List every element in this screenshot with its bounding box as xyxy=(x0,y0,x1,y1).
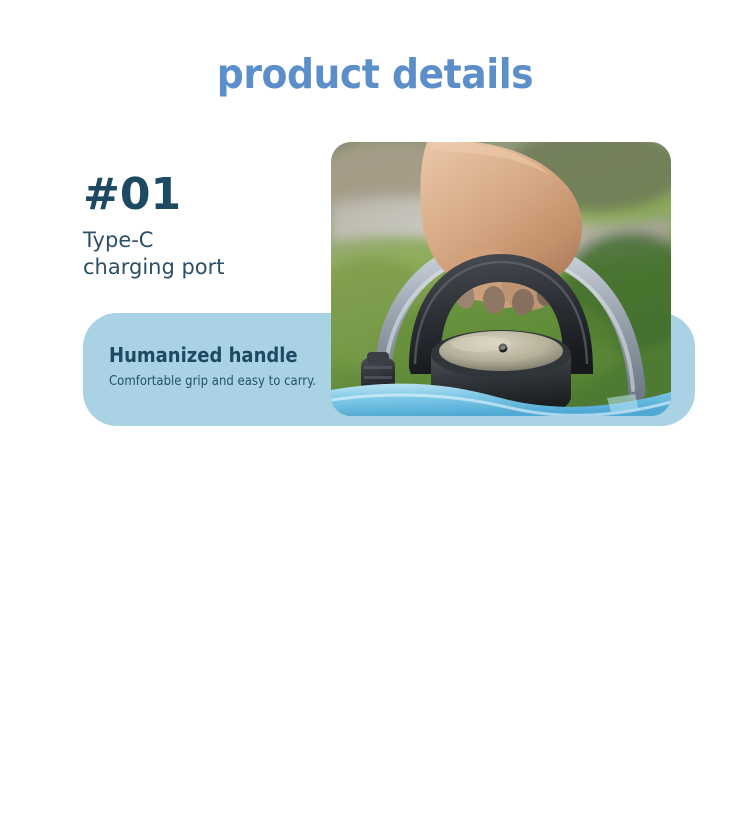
feature-section-01: #01 Type-C charging port Humanized handl… xyxy=(0,0,750,430)
hand-gripping-handle-photo xyxy=(331,142,671,416)
product-details-page: product details #01 Type-C charging port… xyxy=(0,0,750,818)
feature-subtitle-01: Type-C charging port xyxy=(83,227,225,281)
caption-description-01: Comfortable grip and easy to carry. xyxy=(109,374,316,389)
feature-heading-group-01: #01 Type-C charging port xyxy=(83,172,225,281)
caption-band-text-01: Humanized handle Comfortable grip and ea… xyxy=(109,343,339,389)
feature-number-01: #01 xyxy=(83,172,225,218)
photo-illustration-01 xyxy=(331,142,671,416)
caption-title-01: Humanized handle xyxy=(109,343,316,367)
